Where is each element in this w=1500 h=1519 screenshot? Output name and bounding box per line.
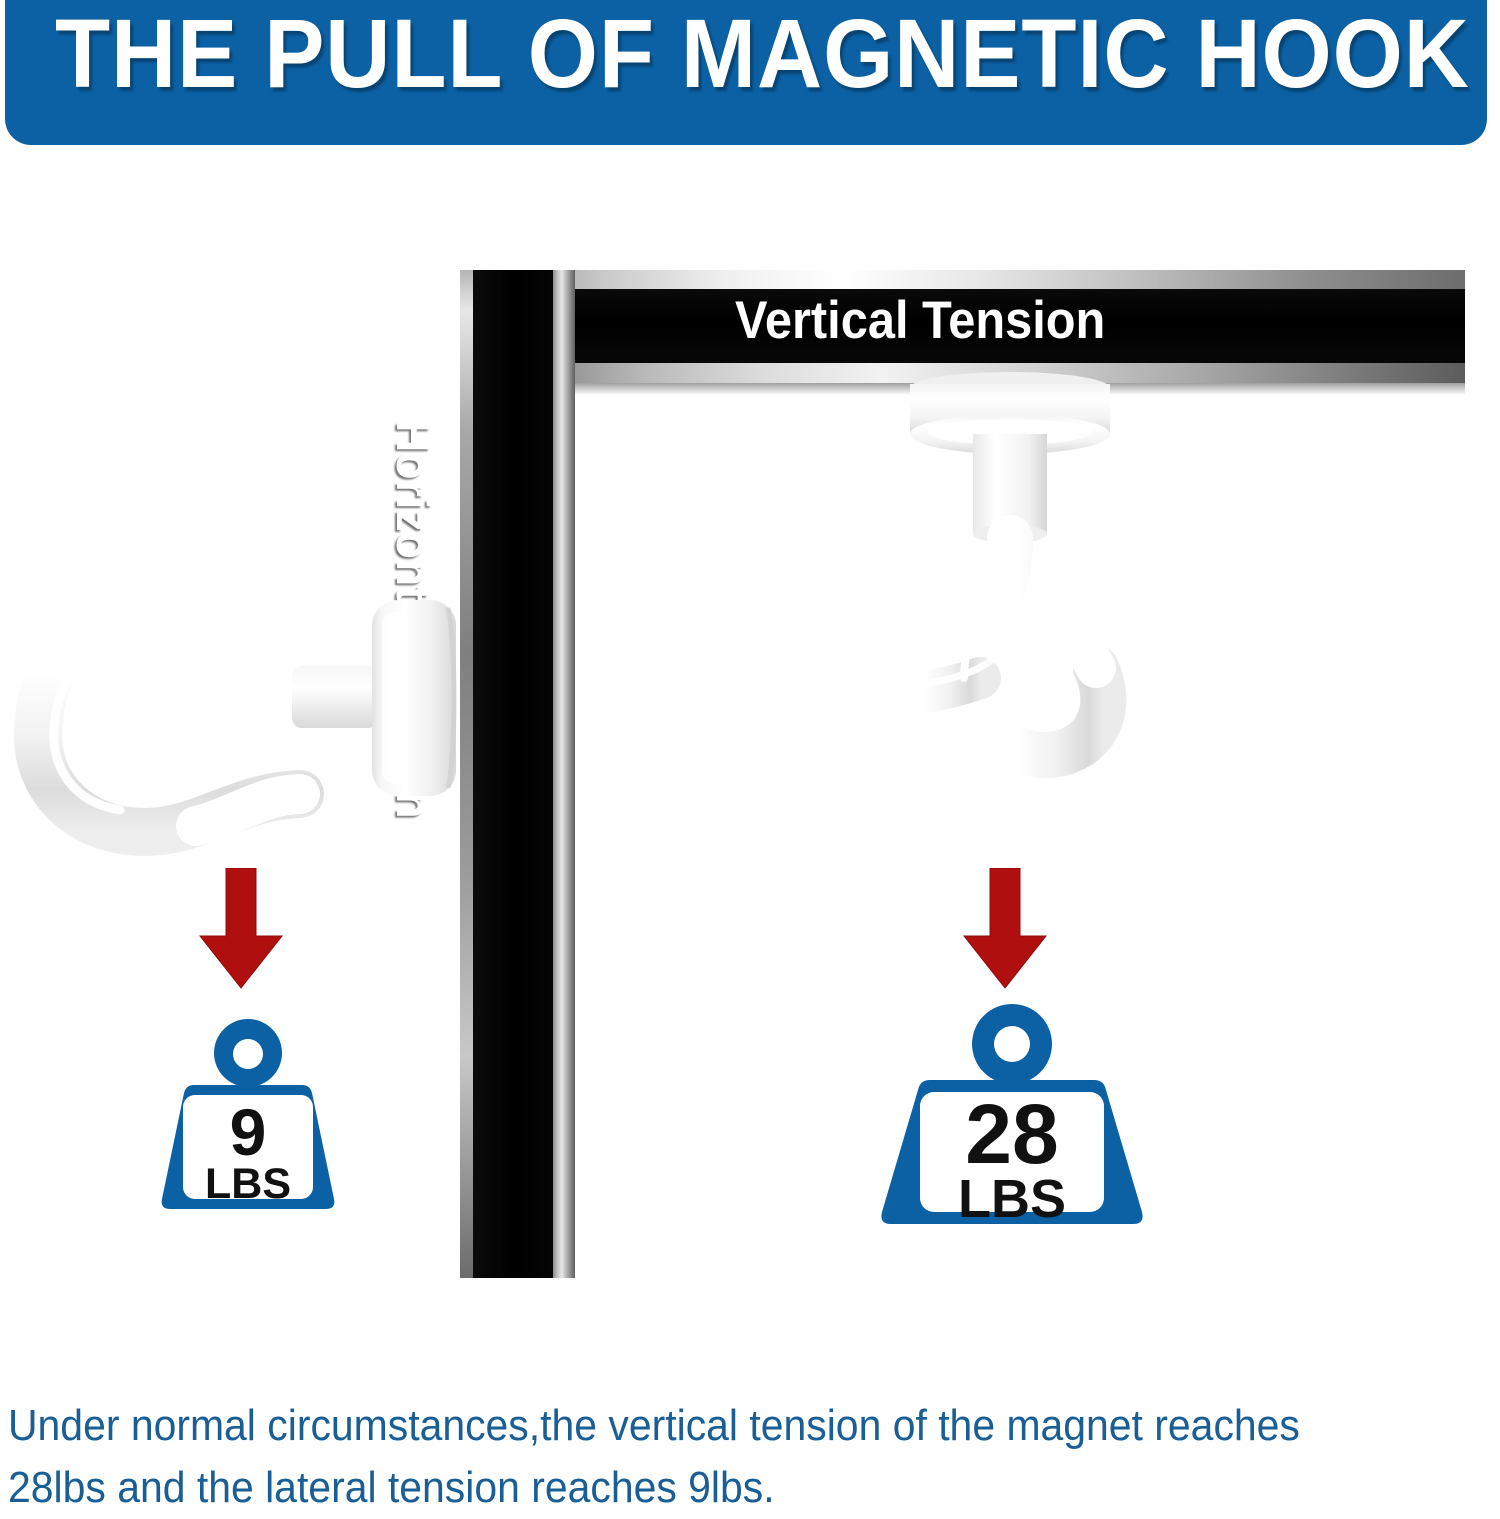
weight-value: 28 <box>872 1092 1152 1176</box>
hook-neck <box>292 666 378 728</box>
vertical-magnetic-hook <box>860 362 1160 842</box>
weight-ring <box>972 1004 1052 1084</box>
weight-value: 9 <box>158 1099 338 1165</box>
bar-top-edge <box>462 270 1465 289</box>
weight-badge-28lbs: 28 LBS <box>872 1000 1152 1228</box>
magnet-highlight <box>382 612 408 784</box>
horizontal-magnetic-hook <box>0 560 480 860</box>
hook-upper-bend <box>1065 628 1096 668</box>
weight-ring <box>214 1019 282 1087</box>
arrow-down-icon <box>962 868 1048 990</box>
weight-unit: LBS <box>158 1163 338 1206</box>
vertical-tension-label: Vertical Tension <box>735 291 1105 351</box>
bar-face <box>473 270 553 1278</box>
caption-text: Under normal circumstances,the vertical … <box>8 1395 1384 1519</box>
weight-badge-9lbs: 9 LBS <box>158 1015 338 1213</box>
arrow-shape <box>964 868 1046 988</box>
header-banner: THE PULL OF MAGNETIC HOOK <box>5 0 1487 145</box>
page-title: THE PULL OF MAGNETIC HOOK <box>55 4 1357 104</box>
arrow-shape <box>200 868 282 988</box>
arrow-down-icon <box>198 868 284 990</box>
bar-right-edge <box>553 270 575 1278</box>
weight-unit: LBS <box>872 1172 1152 1226</box>
